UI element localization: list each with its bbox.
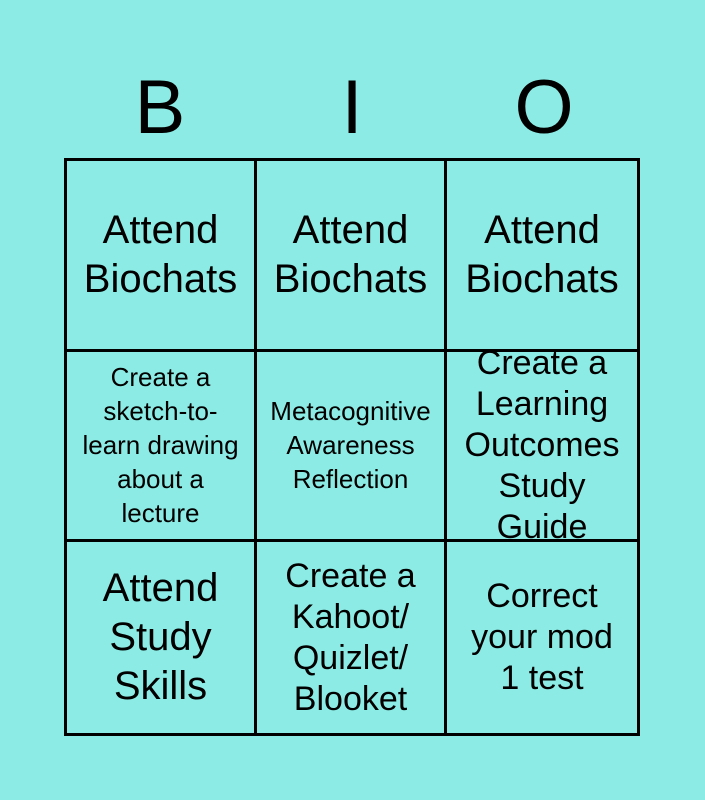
bingo-grid: Attend Biochats Attend Biochats Attend B… — [64, 158, 640, 736]
bingo-cell-label: Attend Biochats — [73, 206, 248, 304]
bingo-header: B I O — [64, 58, 640, 158]
bingo-cell-label: Metacognitive Awareness Reflection — [263, 394, 438, 496]
header-letter-o: O — [448, 58, 640, 158]
bingo-cell-r2c1[interactable]: Create a sketch-to- learn drawing about … — [67, 352, 257, 543]
bingo-cell-r1c1[interactable]: Attend Biochats — [67, 161, 257, 352]
bingo-card: B I O Attend Biochats Attend Biochats At… — [0, 0, 705, 800]
bingo-cell-label: Attend Biochats — [263, 206, 438, 304]
header-letter-b: B — [64, 58, 256, 158]
bingo-cell-label: Create a Learning Outcomes Study Guide — [453, 352, 631, 543]
bingo-cell-r1c3[interactable]: Attend Biochats — [447, 161, 637, 352]
header-letter-i: I — [256, 58, 448, 158]
bingo-cell-label: Create a Kahoot/ Quizlet/ Blooket — [263, 556, 438, 720]
bingo-cell-label: Correct your mod 1 test — [453, 576, 631, 699]
bingo-cell-r2c2[interactable]: Metacognitive Awareness Reflection — [257, 352, 447, 543]
bingo-cell-label: Create a sketch-to- learn drawing about … — [73, 360, 248, 530]
bingo-cell-r2c3[interactable]: Create a Learning Outcomes Study Guide — [447, 352, 637, 543]
bingo-cell-label: Attend Biochats — [453, 206, 631, 304]
bingo-cell-r3c3[interactable]: Correct your mod 1 test — [447, 542, 637, 733]
bingo-cell-r3c2[interactable]: Create a Kahoot/ Quizlet/ Blooket — [257, 542, 447, 733]
bingo-cell-label: Attend Study Skills — [73, 564, 248, 711]
bingo-cell-r1c2[interactable]: Attend Biochats — [257, 161, 447, 352]
bingo-cell-r3c1[interactable]: Attend Study Skills — [67, 542, 257, 733]
